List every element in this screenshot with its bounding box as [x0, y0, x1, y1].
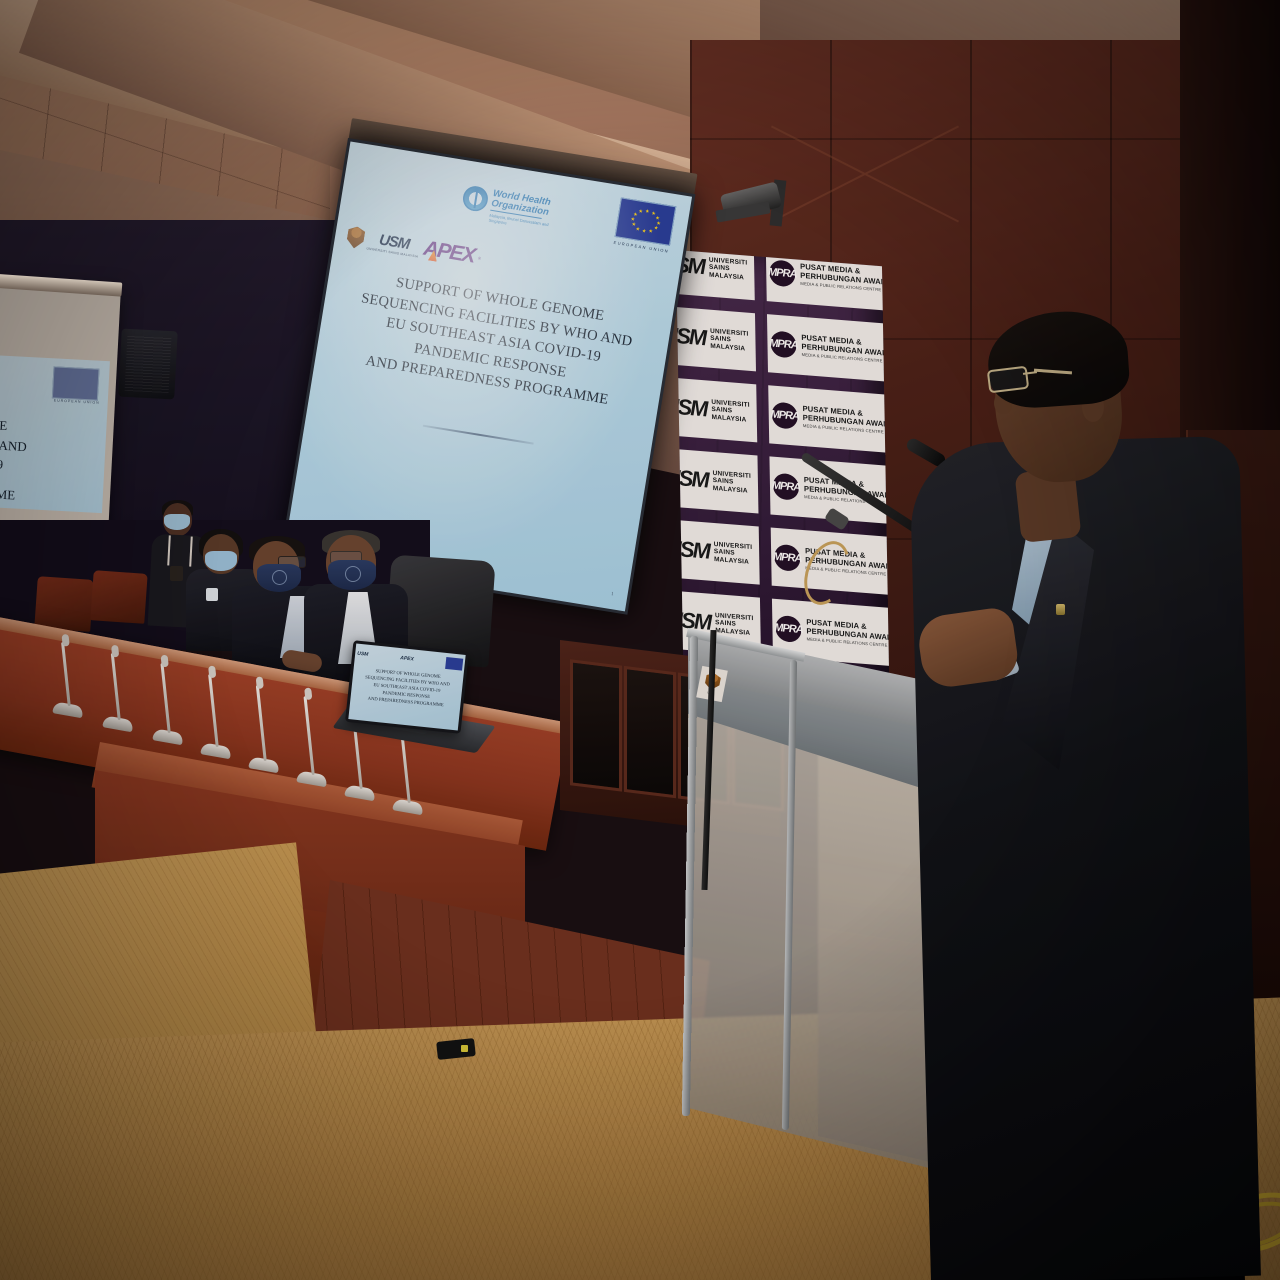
eu-flag-icon: ★★★★★★★★★★★★: [615, 197, 677, 245]
usm-wordmark: USM: [676, 464, 708, 493]
laptop-usm-mark: USM: [357, 651, 369, 658]
who-logo: World Health Organization Malaysia, Brun…: [460, 184, 553, 232]
staff-lanyard: [167, 535, 193, 566]
usm-name-lines: UNIVERSITISAINSMALAYSIA: [710, 327, 749, 353]
chair-left-1: [34, 576, 93, 632]
microphone-capsule-icon: [256, 676, 264, 689]
eu-star-icon: ★: [633, 213, 638, 218]
loudspeaker-mesh: [125, 335, 172, 393]
eu-logo: ★★★★★★★★★★★★ EUROPEAN UNION: [613, 197, 676, 253]
microphone-gooseneck: [304, 696, 315, 775]
eu-star-icon: ★: [631, 222, 636, 227]
eu-star-icon: ★: [635, 227, 640, 232]
mpra-monogram-icon: MPRA: [769, 259, 795, 287]
usm-name-lines: UNIVERSITISAINSMALAYSIA: [709, 256, 748, 282]
usm-name-lines: UNIVERSITISAINSMALAYSIA: [715, 612, 754, 638]
mpra-monogram-icon: MPRA: [775, 615, 801, 643]
banner-tile-mpra: MPRAPUSAT MEDIA &PERHUBUNGAN AWAMMEDIA &…: [767, 314, 889, 382]
eu-star-icon: ★: [645, 209, 650, 214]
secondary-screen-text: OME HO AND D-19 AMME: [0, 415, 28, 505]
chair-left-2: [90, 570, 147, 624]
panelist-2-mask-emblem: [272, 570, 287, 585]
usm-wordmark: USM: [676, 393, 707, 422]
mpra-monogram-icon: MPRA: [770, 330, 796, 358]
staff-face-mask: [164, 514, 190, 530]
laptop-screen[interactable]: USM APEX SUPPORT OF WHOLE GENOMESEQUENCI…: [348, 643, 465, 730]
secondary-fragment-4: AMME: [0, 483, 25, 505]
mpra-text-block: PUSAT MEDIA &PERHUBUNGAN AWAMMEDIA & PUB…: [803, 405, 890, 435]
who-emblem-icon: [461, 184, 490, 213]
eu-star-icon: ★: [642, 229, 647, 234]
mpra-monogram-icon: MPRA: [774, 544, 800, 572]
banner-tile-usm: USMUNIVERSITISAINSMALAYSIA: [676, 250, 755, 300]
panelist-1-badge: [206, 588, 218, 601]
laptop-slide-title: SUPPORT OF WHOLE GENOMESEQUENCING FACILI…: [351, 666, 464, 710]
usm-name-lines: UNIVERSITISAINSMALAYSIA: [711, 398, 750, 424]
speaker-glasses-icon: [988, 368, 1062, 388]
usm-name-lines: UNIVERSITISAINSMALAYSIA: [712, 469, 751, 495]
slide-divider-rule: [423, 425, 534, 445]
backdrop-banner: USMUNIVERSITISAINSMALAYSIAMPRAPUSAT MEDI…: [676, 250, 889, 697]
power-adapter-led-icon: [461, 1045, 468, 1052]
secondary-fragment-3: D-19: [0, 453, 26, 475]
microphone-capsule-icon: [304, 687, 312, 700]
microphone-capsule-icon: [111, 645, 119, 658]
microphone-capsule-icon: [161, 655, 169, 668]
secondary-projection-screen: EUROPEAN UNION OME HO AND D-19 AMME: [0, 355, 110, 513]
speaker-lapel-pin-icon: [1056, 604, 1065, 615]
mpra-monogram-icon: MPRA: [773, 473, 799, 501]
laptop-eu-flag-icon: [445, 657, 463, 671]
banner-tile-usm: USMUNIVERSITISAINSMALAYSIA: [676, 303, 756, 371]
cabinet-door-2[interactable]: [624, 666, 676, 798]
usm-crest-icon: [346, 225, 366, 249]
banner-tile-usm: USMUNIVERSITISAINSMALAYSIA: [676, 375, 757, 443]
cabinet-door-1[interactable]: [570, 659, 622, 791]
laptop-lid: USM APEX SUPPORT OF WHOLE GENOMESEQUENCI…: [345, 640, 469, 734]
conference-room-scene: USMUNIVERSITISAINSMALAYSIAMPRAPUSAT MEDI…: [0, 0, 1280, 1280]
microphone-gooseneck: [208, 674, 219, 747]
mpra-text-block: PUSAT MEDIA &PERHUBUNGAN AWAMMEDIA & PUB…: [800, 263, 887, 293]
who-text-block: World Health Organization Malaysia, Brun…: [488, 189, 553, 232]
microphone-gooseneck: [61, 642, 71, 706]
panelist-3-mask-emblem: [345, 566, 361, 582]
usm-wordmark: USM: [676, 535, 709, 564]
staff-id-badge: [170, 566, 183, 581]
microphone-gooseneck: [160, 663, 170, 733]
secondary-fragment-1: OME: [0, 415, 28, 437]
microphone-gooseneck: [256, 685, 267, 761]
apex-trademark-icon: ®: [478, 255, 482, 260]
slide-page-number: 1: [611, 592, 614, 597]
banner-tile-mpra: MPRAPUSAT MEDIA &PERHUBUNGAN AWAMMEDIA &…: [768, 385, 889, 453]
banner-tile-usm: USMUNIVERSITISAINSMALAYSIA: [676, 446, 758, 514]
eu-star-icon: ★: [648, 229, 653, 234]
mpra-text-block: PUSAT MEDIA &PERHUBUNGAN AWAMMEDIA & PUB…: [801, 334, 888, 364]
wall-loudspeaker: [118, 329, 177, 400]
eu-star-icon: ★: [653, 226, 658, 231]
panelist-1-face-mask: [205, 551, 237, 571]
mpra-text-block: PUSAT MEDIA &PERHUBUNGAN AWAMMEDIA & PUB…: [806, 619, 889, 649]
microphone-gooseneck: [111, 653, 121, 720]
usm-wordmark: USM: [676, 322, 705, 351]
wall-x-brace-detail: [760, 118, 970, 228]
secondary-fragment-2: HO AND: [0, 434, 27, 456]
microphone-capsule-icon: [61, 634, 69, 647]
mpra-monogram-icon: MPRA: [772, 402, 798, 430]
usm-name-lines: UNIVERSITISAINSMALAYSIA: [714, 541, 753, 567]
usm-apex-logo: USM UNIVERSITI SAINS MALAYSIA APEX ®: [345, 224, 483, 269]
secondary-eu-flag-icon: [52, 366, 100, 400]
apex-wordmark: APEX: [422, 237, 476, 269]
laptop-apex-mark: APEX: [400, 655, 414, 662]
banner-logo-grid: USMUNIVERSITISAINSMALAYSIAMPRAPUSAT MEDI…: [676, 250, 889, 697]
banner-tile-usm: USMUNIVERSITISAINSMALAYSIA: [676, 517, 760, 585]
microphone-capsule-icon: [208, 666, 216, 679]
eu-star-icon: ★: [638, 210, 643, 215]
